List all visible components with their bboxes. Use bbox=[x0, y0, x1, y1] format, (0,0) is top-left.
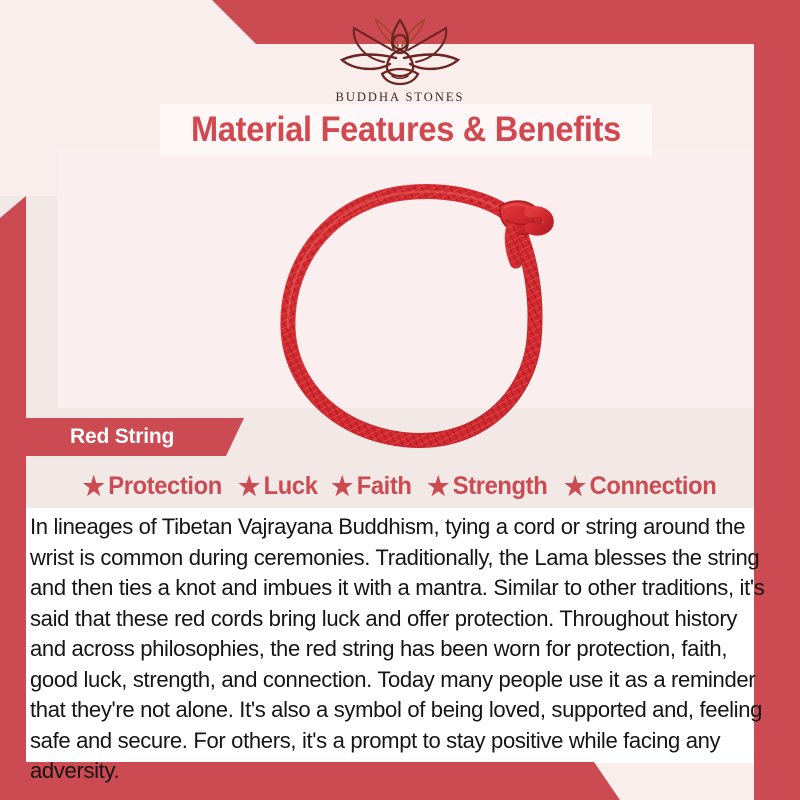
lotus-meditation-icon bbox=[320, 14, 480, 86]
star-icon: ★ bbox=[238, 473, 260, 499]
brand-logo: BUDDHA STONES bbox=[0, 14, 800, 105]
product-label: Red String bbox=[70, 418, 174, 456]
benefit-luck: ★ Luck bbox=[233, 472, 322, 501]
star-icon: ★ bbox=[427, 473, 449, 499]
red-braided-string-bracelet-image bbox=[262, 168, 582, 456]
star-icon: ★ bbox=[331, 473, 353, 499]
benefit-connection: ★ Connection bbox=[560, 472, 722, 501]
benefits-row: ★ Protection ★ Luck ★ Faith ★ Strength ★… bbox=[26, 466, 774, 506]
brand-name: BUDDHA STONES bbox=[336, 90, 465, 105]
benefit-protection: ★ Protection bbox=[78, 472, 227, 501]
benefit-label: Strength bbox=[453, 472, 548, 501]
benefit-faith: ★ Faith bbox=[327, 472, 417, 501]
benefit-label: Protection bbox=[108, 472, 222, 501]
frame-left-bar bbox=[0, 196, 26, 772]
description-text: In lineages of Tibetan Vajrayana Buddhis… bbox=[30, 512, 771, 787]
benefit-label: Luck bbox=[263, 472, 317, 501]
product-feature-poster: BUDDHA STONES Material Features & Benefi… bbox=[0, 0, 800, 800]
benefit-strength: ★ Strength bbox=[422, 472, 552, 501]
star-icon: ★ bbox=[564, 473, 586, 499]
benefit-label: Faith bbox=[357, 472, 412, 501]
star-icon: ★ bbox=[83, 473, 105, 499]
benefit-label: Connection bbox=[590, 472, 717, 501]
page-title: Material Features & Benefits bbox=[177, 104, 635, 156]
